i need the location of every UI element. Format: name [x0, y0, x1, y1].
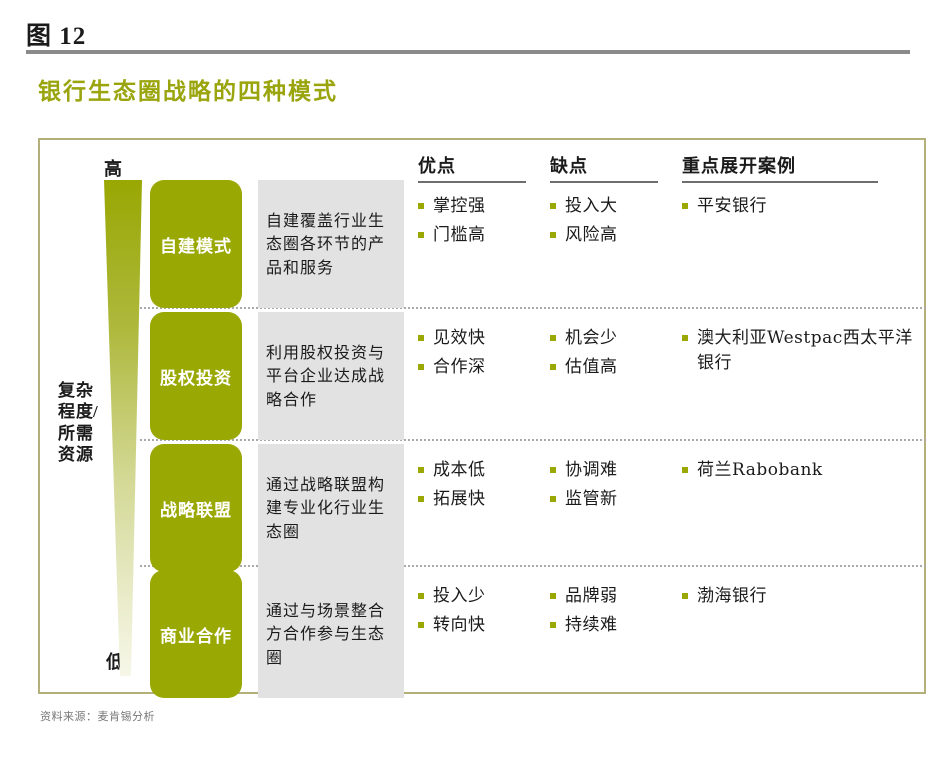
list-item: 估值高 [550, 355, 680, 380]
axis-caption-l3: 所 [58, 423, 75, 444]
axis-caption-r2: 度/ [76, 401, 98, 422]
list-item: 监管新 [550, 487, 680, 512]
column-header-pros: 优点 [418, 152, 526, 183]
bullet-column-cons: 品牌弱持续难 [550, 584, 680, 641]
square-bullet-icon [550, 467, 556, 473]
list-item: 拓展快 [418, 487, 548, 512]
list-item: 投入少 [418, 584, 548, 609]
list-item: 荷兰Rabobank [682, 458, 917, 483]
table-row: 自建模式自建覆盖行业生态圈各环节的产品和服务掌控强门槛高投入大风险高平安银行 [150, 180, 926, 308]
list-item: 成本低 [418, 458, 548, 483]
table-row: 股权投资利用股权投资与平台企业达成战略合作见效快合作深机会少估值高澳大利亚Wes… [150, 312, 926, 440]
bullet-column-pros: 见效快合作深 [418, 326, 548, 383]
square-bullet-icon [550, 622, 556, 628]
list-item: 门槛高 [418, 223, 548, 248]
list-item-label: 合作深 [433, 355, 486, 380]
square-bullet-icon [682, 335, 688, 341]
square-bullet-icon [550, 232, 556, 238]
header-divider-rule [26, 50, 910, 54]
list-item-label: 转向快 [433, 613, 486, 638]
list-item: 澳大利亚Westpac西太平洋银行 [682, 326, 917, 375]
square-bullet-icon [418, 364, 424, 370]
column-header-cons: 缺点 [550, 152, 658, 183]
square-bullet-icon [418, 335, 424, 341]
chart-subtitle: 银行生态圈战略的四种模式 [38, 72, 338, 106]
list-item-label: 持续难 [565, 613, 618, 638]
table-row: 战略联盟通过战略联盟构建专业化行业生态圈成本低拓展快协调难监管新荷兰Raboba… [150, 444, 926, 572]
mode-description-text: 通过战略联盟构建专业化行业生态圈 [266, 473, 396, 543]
list-item: 见效快 [418, 326, 548, 351]
square-bullet-icon [418, 467, 424, 473]
square-bullet-icon [418, 496, 424, 502]
bullet-column-cases: 平安银行 [682, 194, 917, 223]
square-bullet-icon [418, 232, 424, 238]
list-item: 渤海银行 [682, 584, 917, 609]
mode-label-box[interactable]: 战略联盟 [150, 444, 242, 572]
mode-description-box: 利用股权投资与平台企业达成战略合作 [258, 312, 404, 440]
mode-description-text: 通过与场景整合方合作参与生态圈 [266, 599, 396, 669]
table-row: 商业合作通过与场景整合方合作参与生态圈投入少转向快品牌弱持续难渤海银行 [150, 570, 926, 698]
list-item-label: 投入少 [433, 584, 486, 609]
square-bullet-icon [550, 364, 556, 370]
square-bullet-icon [550, 496, 556, 502]
list-item: 持续难 [550, 613, 680, 638]
list-item-label: 成本低 [433, 458, 486, 483]
square-bullet-icon [682, 467, 688, 473]
list-item-label: 掌控强 [433, 194, 486, 219]
mode-label-box[interactable]: 股权投资 [150, 312, 242, 440]
square-bullet-icon [550, 203, 556, 209]
list-item: 品牌弱 [550, 584, 680, 609]
list-item: 掌控强 [418, 194, 548, 219]
axis-caption-l2: 程 [58, 401, 75, 422]
axis-caption: 复 程 所 资 杂 度/ 需 源 [58, 380, 104, 465]
list-item-label: 荷兰Rabobank [697, 458, 823, 483]
list-item: 风险高 [550, 223, 680, 248]
square-bullet-icon [418, 593, 424, 599]
list-item-label: 澳大利亚Westpac西太平洋银行 [697, 326, 917, 375]
list-item-label: 平安银行 [697, 194, 767, 219]
list-item: 平安银行 [682, 194, 917, 219]
axis-caption-r3: 需 [76, 423, 98, 444]
list-item-label: 机会少 [565, 326, 618, 351]
column-header-cases: 重点展开案例 [682, 152, 878, 183]
figure-label: 图 12 [26, 16, 86, 52]
list-item-label: 渤海银行 [697, 584, 767, 609]
complexity-gradient-wedge [100, 180, 148, 676]
axis-caption-r4: 源 [76, 444, 98, 465]
bullet-column-pros: 掌控强门槛高 [418, 194, 548, 251]
bullet-column-pros: 成本低拓展快 [418, 458, 548, 515]
source-note: 资料来源：麦肯锡分析 [40, 708, 155, 724]
square-bullet-icon [682, 203, 688, 209]
list-item-label: 见效快 [433, 326, 486, 351]
bullet-column-cases: 澳大利亚Westpac西太平洋银行 [682, 326, 917, 379]
bullet-column-pros: 投入少转向快 [418, 584, 548, 641]
axis-caption-r1: 杂 [76, 380, 98, 401]
axis-caption-col-right: 杂 度/ 需 源 [76, 380, 98, 465]
bullet-column-cons: 机会少估值高 [550, 326, 680, 383]
list-item: 转向快 [418, 613, 548, 638]
bullet-column-cons: 协调难监管新 [550, 458, 680, 515]
list-item-label: 拓展快 [433, 487, 486, 512]
mode-description-box: 通过与场景整合方合作参与生态圈 [258, 570, 404, 698]
list-item-label: 门槛高 [433, 223, 486, 248]
square-bullet-icon [550, 335, 556, 341]
list-item-label: 投入大 [565, 194, 618, 219]
list-item-label: 风险高 [565, 223, 618, 248]
list-item-label: 协调难 [565, 458, 618, 483]
square-bullet-icon [682, 593, 688, 599]
axis-caption-l4: 资 [58, 444, 75, 465]
bullet-column-cons: 投入大风险高 [550, 194, 680, 251]
bullet-column-cases: 渤海银行 [682, 584, 917, 613]
column-header-cons-label: 缺点 [550, 152, 658, 181]
square-bullet-icon [418, 622, 424, 628]
column-header-cases-label: 重点展开案例 [682, 152, 878, 181]
list-item-label: 品牌弱 [565, 584, 618, 609]
axis-high-label: 高 [104, 155, 122, 181]
mode-description-box: 自建覆盖行业生态圈各环节的产品和服务 [258, 180, 404, 308]
square-bullet-icon [418, 203, 424, 209]
mode-description-box: 通过战略联盟构建专业化行业生态圈 [258, 444, 404, 572]
list-item: 合作深 [418, 355, 548, 380]
mode-description-text: 自建覆盖行业生态圈各环节的产品和服务 [266, 209, 396, 279]
list-item-label: 监管新 [565, 487, 618, 512]
mode-label-box[interactable]: 商业合作 [150, 570, 242, 698]
list-item: 机会少 [550, 326, 680, 351]
list-item: 投入大 [550, 194, 680, 219]
mode-label-box[interactable]: 自建模式 [150, 180, 242, 308]
list-item: 协调难 [550, 458, 680, 483]
column-header-pros-label: 优点 [418, 152, 526, 181]
axis-caption-col-left: 复 程 所 资 [58, 380, 75, 465]
square-bullet-icon [550, 593, 556, 599]
axis-caption-l1: 复 [58, 380, 75, 401]
bullet-column-cases: 荷兰Rabobank [682, 458, 917, 487]
mode-description-text: 利用股权投资与平台企业达成战略合作 [266, 341, 396, 411]
list-item-label: 估值高 [565, 355, 618, 380]
